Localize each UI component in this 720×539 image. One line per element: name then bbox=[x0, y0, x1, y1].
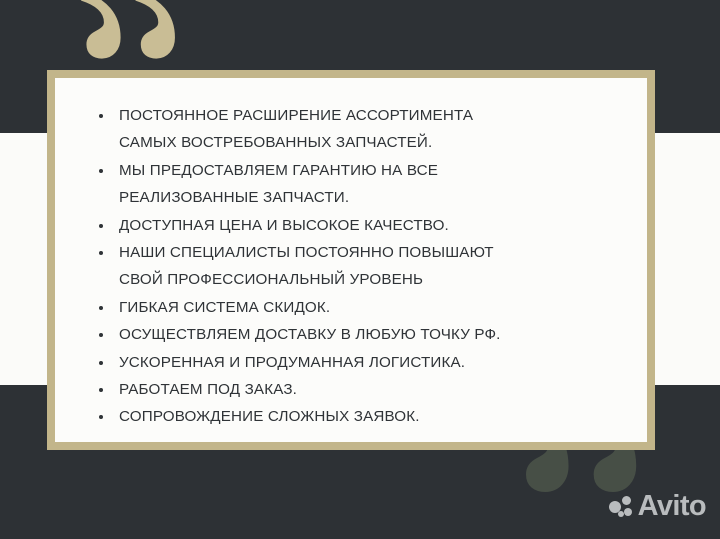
avito-watermark-logo: Avito bbox=[609, 492, 706, 521]
avito-dot-bottom-left bbox=[618, 511, 624, 517]
list-item: СОПРОВОЖДЕНИЕ СЛОЖНЫХ ЗАЯВОК. bbox=[93, 403, 617, 430]
list-item: РАБОТАЕМ ПОД ЗАКАЗ. bbox=[93, 376, 617, 403]
list-item: УСКОРЕННАЯ И ПРОДУМАННАЯ ЛОГИСТИКА. bbox=[93, 349, 617, 376]
avito-wordmark: Avito bbox=[638, 492, 706, 521]
list-item: НАШИ СПЕЦИАЛИСТЫ ПОСТОЯННО ПОВЫШАЮТ СВОЙ… bbox=[93, 239, 617, 294]
avito-dot-bottom-right bbox=[624, 508, 632, 516]
slide-canvas: “ “ ПОСТОЯННОЕ РАСШИРЕНИЕ АССОРТИМЕНТА С… bbox=[0, 0, 720, 539]
avito-dot-top-right bbox=[622, 496, 631, 505]
avito-dots-icon bbox=[609, 495, 633, 519]
list-item: ГИБКАЯ СИСТЕМА СКИДОК. bbox=[93, 294, 617, 321]
decorative-quote-icon: “ bbox=[72, 0, 188, 211]
list-item: ОСУЩЕСТВЛЯЕМ ДОСТАВКУ В ЛЮБУЮ ТОЧКУ РФ. bbox=[93, 321, 617, 348]
